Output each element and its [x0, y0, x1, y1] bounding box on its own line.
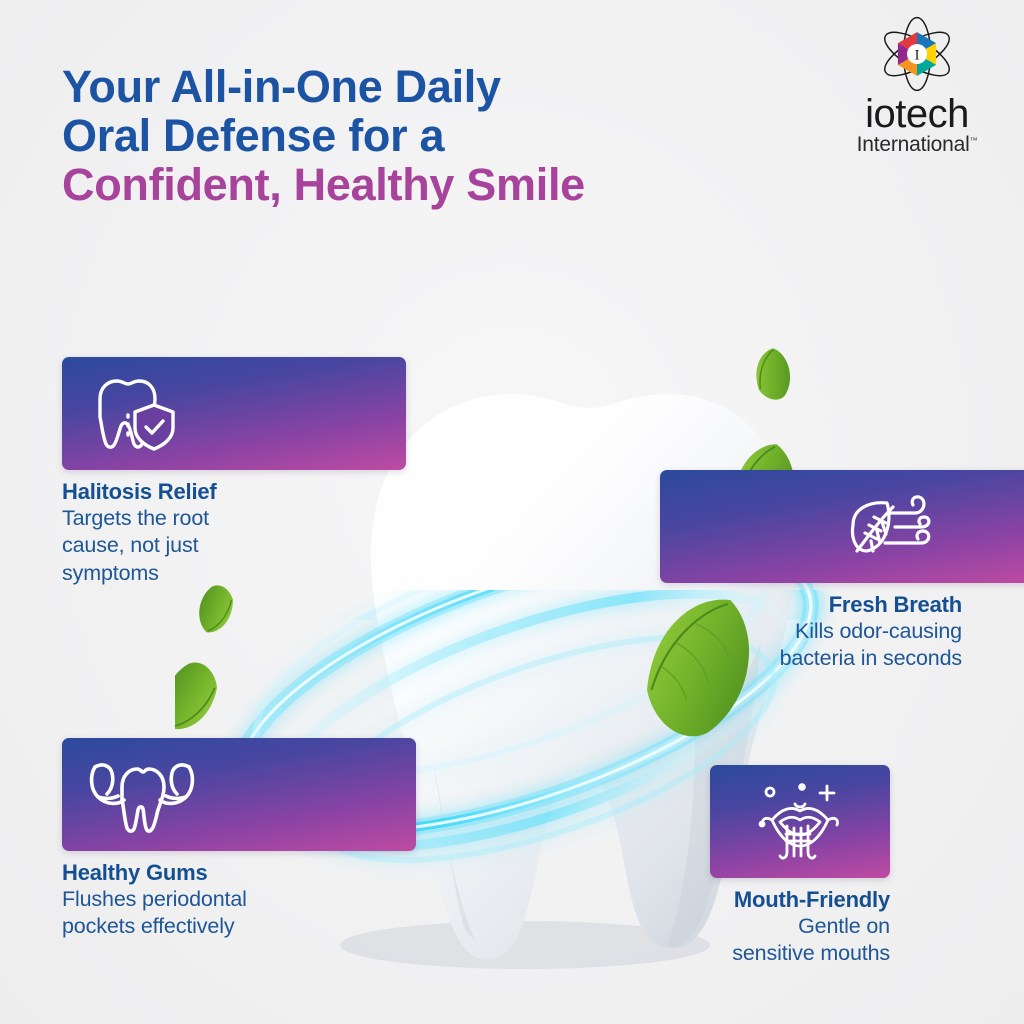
feature-card-title: Mouth-Friendly — [655, 887, 890, 913]
desc-line: Flushes periodontal — [62, 886, 402, 914]
feature-card-text: Fresh Breath Kills odor-causing bacteria… — [660, 592, 962, 673]
desc-line: symptoms — [62, 560, 392, 588]
desc-line: Kills odor-causing — [660, 618, 962, 646]
mint-leaf — [744, 345, 804, 405]
logo-subtitle: International™ — [857, 134, 978, 156]
feature-card-desc: Targets the root cause, not just symptom… — [62, 505, 392, 588]
headline-line-3: Confident, Healthy Smile — [62, 160, 722, 209]
feature-card-text: Mouth-Friendly Gentle on sensitive mouth… — [655, 887, 890, 968]
feature-card-halitosis[interactable]: Halitosis Relief Targets the root cause,… — [62, 357, 392, 588]
mint-leaf — [187, 580, 243, 636]
desc-line: bacteria in seconds — [660, 645, 962, 673]
feature-card-mouth-friendly[interactable]: Mouth-Friendly Gentle on sensitive mouth… — [710, 765, 890, 968]
feature-card-title: Fresh Breath — [660, 592, 962, 618]
desc-line: pockets effectively — [62, 913, 402, 941]
logo-center-letter: I — [915, 47, 920, 63]
feature-card-text: Halitosis Relief Targets the root cause,… — [62, 479, 392, 588]
feature-card-title: Healthy Gums — [62, 860, 402, 886]
logo-subtitle-text: International — [857, 133, 970, 156]
page-title: Your All-in-One Daily Oral Defense for a… — [62, 62, 722, 209]
feature-card-fresh-breath[interactable]: Fresh Breath Kills odor-causing bacteria… — [660, 470, 962, 673]
desc-line: cause, not just — [62, 532, 392, 560]
feature-card-chip — [62, 738, 416, 851]
feature-card-chip — [710, 765, 890, 878]
feature-card-title: Halitosis Relief — [62, 479, 392, 505]
tooth-muscle-arms-icon — [86, 755, 198, 835]
desc-line: Targets the root — [62, 505, 392, 533]
tooth-shield-icon — [88, 375, 180, 453]
logo-wordmark: iotech — [832, 96, 1002, 133]
feature-card-desc: Kills odor-causing bacteria in seconds — [660, 618, 962, 673]
headline-line-1: Your All-in-One Daily — [62, 62, 722, 111]
poster-canvas: Your All-in-One Daily Oral Defense for a… — [0, 0, 1024, 1024]
headline-line-2: Oral Defense for a — [62, 111, 722, 160]
feature-card-desc: Flushes periodontal pockets effectively — [62, 886, 402, 941]
feature-card-text: Healthy Gums Flushes periodontal pockets… — [62, 860, 402, 941]
feature-card-healthy-gums[interactable]: Healthy Gums Flushes periodontal pockets… — [62, 738, 402, 941]
smiling-lips-sparkle-icon — [748, 776, 852, 868]
mint-leaf — [175, 657, 228, 734]
desc-line: Gentle on — [655, 913, 890, 941]
atom-logo-icon: I — [871, 14, 963, 94]
brand-logo: I iotech International™ — [832, 14, 1002, 154]
logo-trademark: ™ — [970, 136, 978, 145]
feature-card-chip — [660, 470, 1024, 583]
feature-card-desc: Gentle on sensitive mouths — [655, 913, 890, 968]
leaf-breeze-icon — [843, 489, 939, 565]
feature-card-chip — [62, 357, 406, 470]
desc-line: sensitive mouths — [655, 940, 890, 968]
